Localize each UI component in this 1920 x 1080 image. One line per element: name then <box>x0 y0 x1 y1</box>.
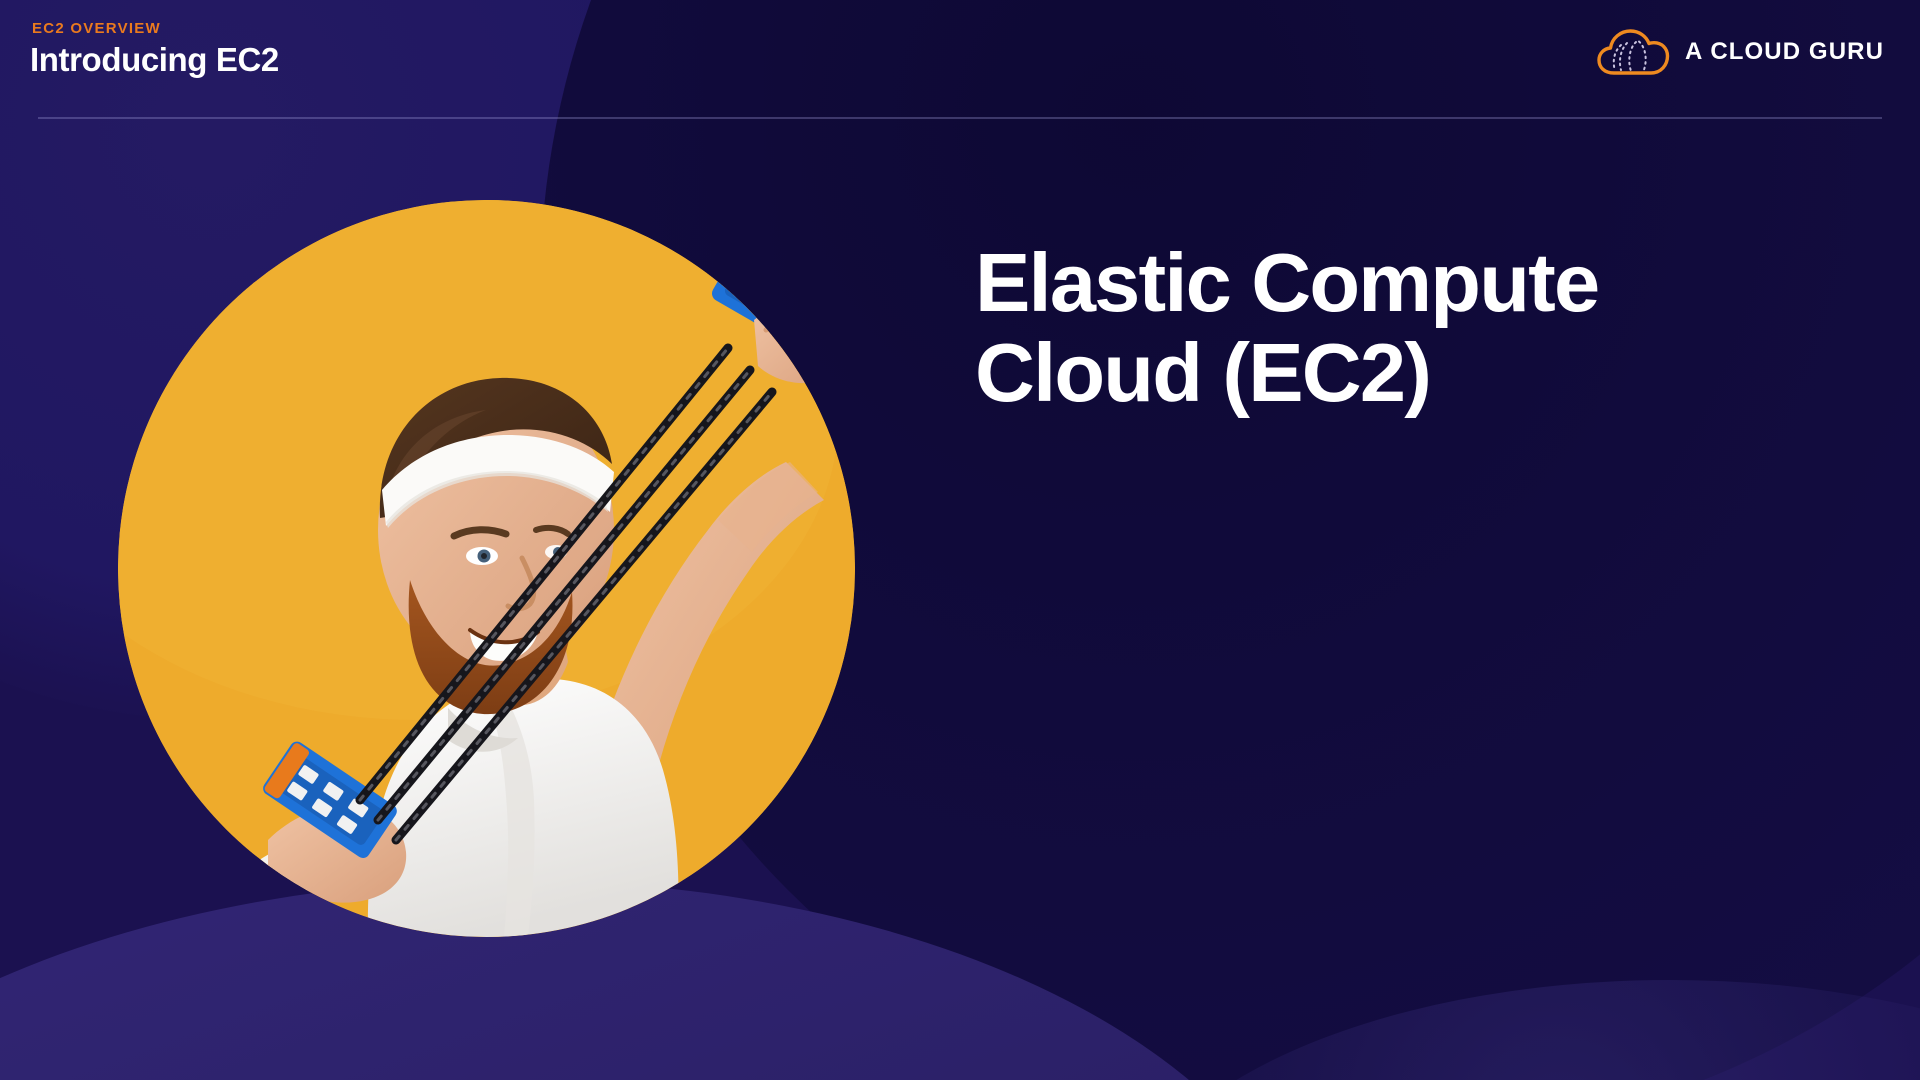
cloud-outline-icon <box>1596 28 1670 76</box>
slide-canvas: EC2 OVERVIEW Introducing EC2 A CLOUD GUR… <box>0 0 1920 1080</box>
background-blob-bottom-left <box>0 880 1320 1080</box>
page-title: Elastic Compute Cloud (EC2) <box>975 238 1795 417</box>
background-blob-bottom-right <box>1120 980 1920 1080</box>
slide-kicker: EC2 OVERVIEW <box>32 20 161 37</box>
brand-name: A CLOUD GURU <box>1685 38 1884 66</box>
athlete-photo <box>118 200 855 937</box>
hero-photo-circle <box>118 200 855 937</box>
slide-subtitle: Introducing EC2 <box>30 41 279 79</box>
brand-lockup: A CLOUD GURU <box>1596 28 1884 76</box>
slide-header: EC2 OVERVIEW Introducing EC2 A CLOUD GUR… <box>0 0 1920 119</box>
header-divider <box>38 117 1882 119</box>
